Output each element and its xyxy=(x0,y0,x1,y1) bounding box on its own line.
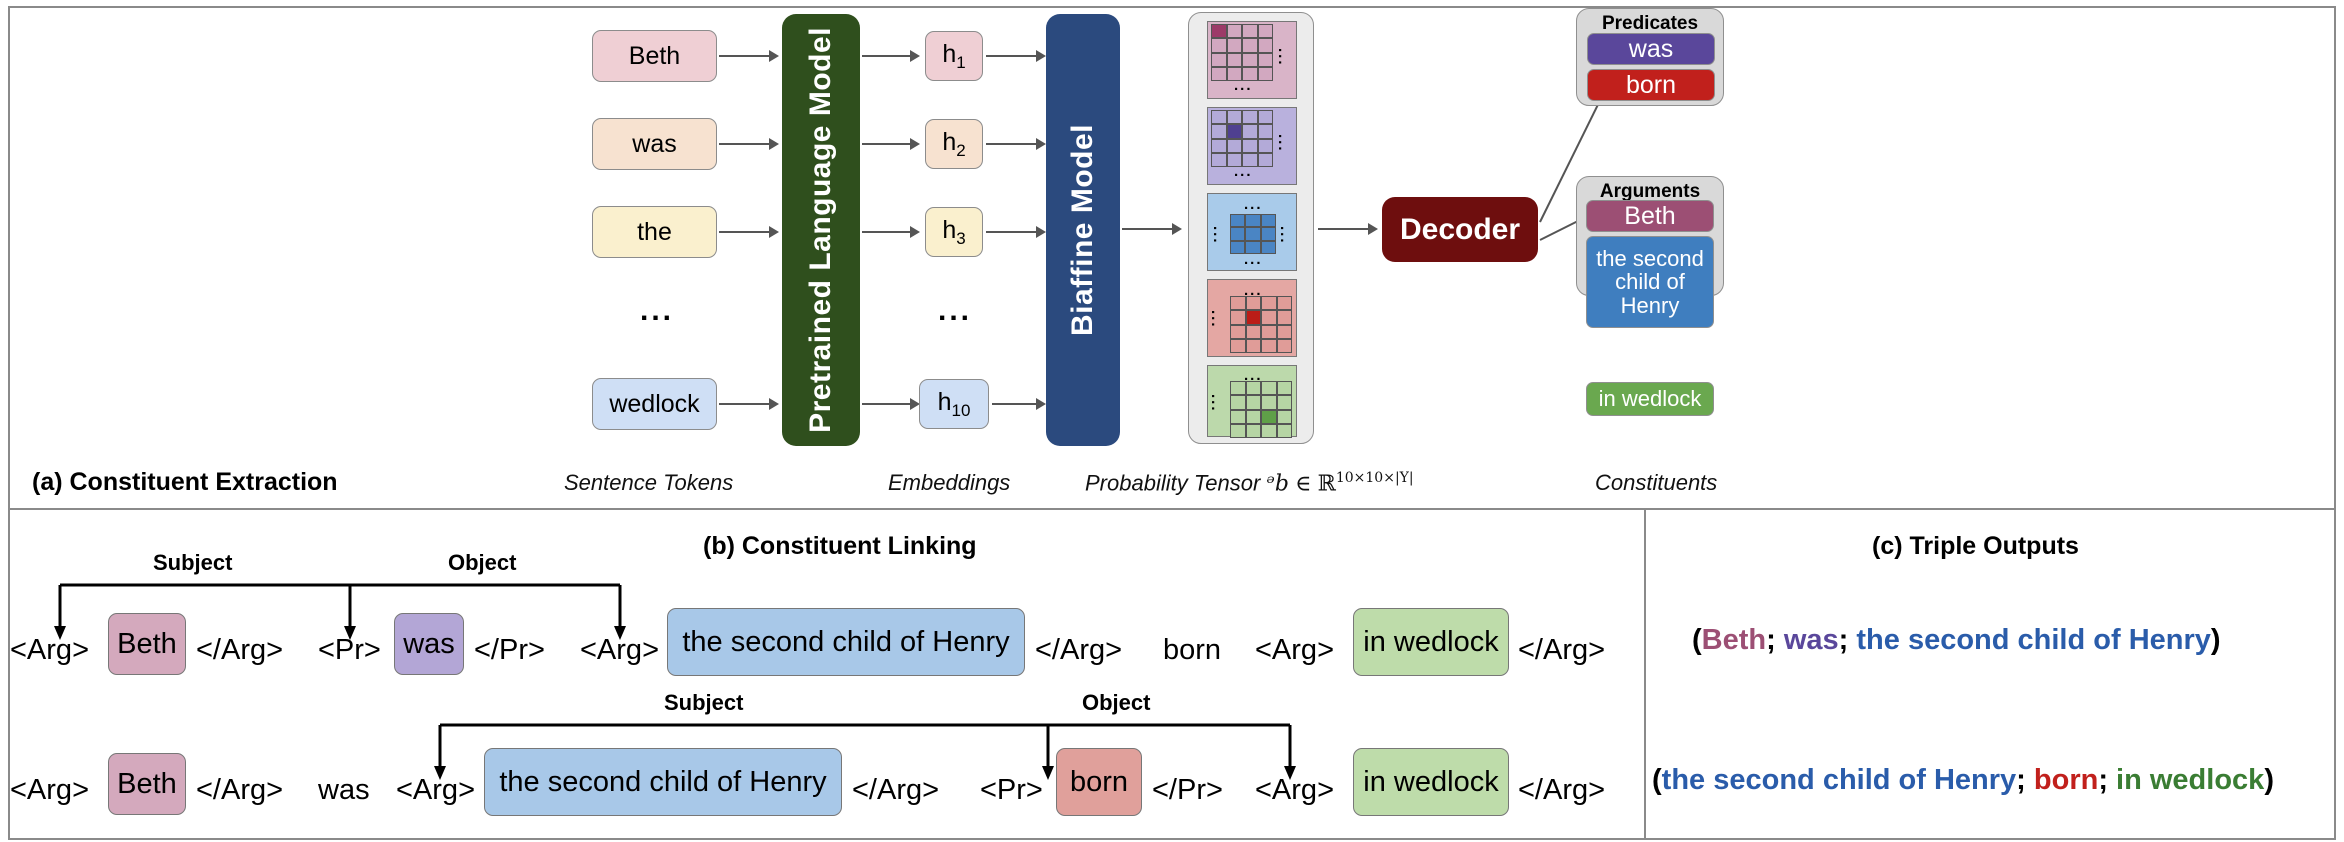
arrow-plm-to-emb2 xyxy=(862,231,912,233)
tensor-cell xyxy=(1277,296,1293,310)
tensor-cell xyxy=(1261,381,1277,395)
decoder-block[interactable]: Decoder xyxy=(1382,197,1538,262)
row1-chip-was[interactable]: was xyxy=(394,613,464,675)
token-label: the xyxy=(637,218,672,247)
arrow-token1-to-plm xyxy=(719,143,771,145)
arrow-biaffine-to-tensor xyxy=(1122,228,1174,230)
predicate-chip-born[interactable]: born xyxy=(1587,69,1715,101)
tensor-cell xyxy=(1258,38,1274,52)
link-label-subject-row2: Subject xyxy=(664,690,743,716)
tensor-cell xyxy=(1277,424,1293,438)
tensor-cell xyxy=(1211,139,1227,153)
tensor-cell xyxy=(1258,24,1274,38)
token-label: Beth xyxy=(629,42,680,71)
argument-label: in wedlock xyxy=(1599,387,1702,410)
row1-tag-arg-open-2: <Arg> xyxy=(580,627,659,673)
link-arrows-row1 xyxy=(0,0,2344,842)
tensor-cell xyxy=(1258,139,1274,153)
embedding-label: h2 xyxy=(942,128,965,161)
link-label-object-row2: Object xyxy=(1082,690,1150,716)
link-label-subject-row1: Subject xyxy=(153,550,232,576)
tensor-symbol: ᵊb xyxy=(1266,471,1289,496)
arrow-head xyxy=(769,138,779,150)
triple-object: in wedlock xyxy=(2116,764,2264,796)
link-label-object-row1: Object xyxy=(448,550,516,576)
row2-tag-arg-close-2: </Arg> xyxy=(852,767,939,813)
embedding-box-3[interactable]: h10 xyxy=(919,379,989,429)
tensor-cell xyxy=(1277,410,1293,424)
tensor-cell xyxy=(1246,339,1262,353)
arrow-plm-to-emb3 xyxy=(862,403,912,405)
triple-predicate: was xyxy=(1784,624,1839,656)
decoder-output-arrows xyxy=(0,0,2344,500)
tensor-cell xyxy=(1277,395,1293,409)
token-label: was xyxy=(632,130,676,159)
tensor-grid xyxy=(1230,381,1292,438)
token-ellipsis: ... xyxy=(640,296,674,326)
arrow-token0-to-plm xyxy=(719,55,771,57)
triple-subject: the second child of Henry xyxy=(1662,764,2017,796)
predicates-panel: Predicates was born xyxy=(1576,8,1724,106)
row1-word-born: born xyxy=(1163,627,1221,673)
tensor-grid xyxy=(1230,296,1292,353)
arrow-token3-to-plm xyxy=(719,403,771,405)
tensor-cell xyxy=(1258,124,1274,138)
embedding-label: h1 xyxy=(942,40,965,73)
embedding-box-1[interactable]: h2 xyxy=(925,119,983,169)
decoder-label: Decoder xyxy=(1400,213,1520,247)
tensor-cell xyxy=(1230,310,1246,324)
tensor-caption-prefix: Probability Tensor xyxy=(1085,470,1260,495)
arrow-head xyxy=(1036,138,1046,150)
tensor-cell xyxy=(1242,110,1258,124)
tensor-cell xyxy=(1261,214,1276,227)
row2-tag-arg-close-3: </Arg> xyxy=(1518,767,1605,813)
triple-object: the second child of Henry xyxy=(1856,624,2211,656)
tensor-cell xyxy=(1227,53,1243,67)
tensor-cell xyxy=(1246,410,1262,424)
row1-chip-beth[interactable]: Beth xyxy=(108,613,186,675)
row1-chip-in-wedlock[interactable]: in wedlock xyxy=(1353,608,1509,676)
row1-tag-arg-close-1: </Arg> xyxy=(196,627,283,673)
token-box-2[interactable]: the xyxy=(592,206,717,258)
divider-right-edge xyxy=(2334,6,2336,840)
divider-top xyxy=(8,6,2336,8)
arrow-plm-to-emb0 xyxy=(862,55,912,57)
embedding-ellipsis: ... xyxy=(938,296,972,326)
tensor-col-ellipsis: ... xyxy=(1234,78,1253,93)
argument-chip-second-child[interactable]: the second child of Henry xyxy=(1586,236,1714,328)
tensor-cell xyxy=(1261,227,1276,240)
row2-chip-born[interactable]: born xyxy=(1056,748,1142,816)
arrow-emb1-to-biaffine xyxy=(986,143,1038,145)
triple-predicate: born xyxy=(2034,764,2098,796)
row2-chip-in-wedlock[interactable]: in wedlock xyxy=(1353,748,1509,816)
tensor-cell xyxy=(1227,139,1243,153)
arrow-head xyxy=(769,398,779,410)
tensor-cell xyxy=(1211,38,1227,52)
token-box-0[interactable]: Beth xyxy=(592,30,717,82)
arrow-head xyxy=(1036,50,1046,62)
divider-left-edge xyxy=(8,6,10,840)
tensor-cell xyxy=(1261,310,1277,324)
tensor-cell xyxy=(1246,325,1262,339)
token-box-3[interactable]: wedlock xyxy=(592,378,717,430)
tensor-cell xyxy=(1246,381,1262,395)
arrow-head xyxy=(769,50,779,62)
tensor-cell xyxy=(1246,424,1262,438)
tensor-cell xyxy=(1277,325,1293,339)
arrow-head xyxy=(1368,223,1378,235)
biaffine-label: Biaffine Model xyxy=(1066,124,1100,336)
tensor-cell xyxy=(1230,381,1246,395)
row2-tag-arg-open-2: <Arg> xyxy=(396,767,475,813)
tensor-cell xyxy=(1246,395,1262,409)
tensor-slice-pink: ... ... xyxy=(1207,21,1297,99)
tensor-cell xyxy=(1227,24,1243,38)
row1-tag-pr-close: </Pr> xyxy=(474,627,545,673)
tensor-cell xyxy=(1277,381,1293,395)
tensor-cell xyxy=(1230,325,1246,339)
argument-label: the second child of Henry xyxy=(1589,247,1711,316)
tensor-top-ellipsis: ... xyxy=(1244,197,1263,212)
caption-constituents: Constituents xyxy=(1595,470,1717,496)
tensor-cell xyxy=(1245,214,1260,227)
tensor-grid xyxy=(1211,24,1273,81)
triple-subject: Beth xyxy=(1702,624,1766,656)
triple-open-paren: ( xyxy=(1652,764,1662,796)
tensor-cell xyxy=(1230,395,1246,409)
tensor-cell xyxy=(1261,325,1277,339)
tensor-left-ellipsis: ... xyxy=(1212,310,1221,329)
tensor-row-ellipsis: ... xyxy=(1279,134,1288,153)
tensor-left-ellipsis: ... xyxy=(1212,394,1221,413)
tensor-cell xyxy=(1261,241,1276,254)
predicate-label: was xyxy=(1629,36,1673,62)
token-label: wedlock xyxy=(609,390,699,419)
tensor-cell xyxy=(1246,296,1262,310)
arrow-tensor-to-decoder xyxy=(1318,228,1370,230)
token-box-1[interactable]: was xyxy=(592,118,717,170)
tensor-cell xyxy=(1227,110,1243,124)
arrow-head xyxy=(910,138,920,150)
tensor-cell xyxy=(1242,124,1258,138)
tensor-slice-green: ... ... xyxy=(1207,365,1297,437)
tensor-dims: 10×10×|Y| xyxy=(1336,470,1414,486)
tensor-cell xyxy=(1242,24,1258,38)
tensor-cell xyxy=(1230,339,1246,353)
caption-embeddings: Embeddings xyxy=(888,470,1010,496)
predicate-label: born xyxy=(1626,72,1676,98)
figure-root: Beth was the ... wedlock Pretrained Lang… xyxy=(0,0,2344,842)
argument-chip-beth[interactable]: Beth xyxy=(1586,200,1714,232)
divider-horizontal-main xyxy=(8,508,2336,510)
divider-bottom xyxy=(8,838,2336,840)
tensor-right-ellipsis: ... xyxy=(1281,226,1290,245)
embedding-box-0[interactable]: h1 xyxy=(925,31,983,81)
triple-close-paren: ) xyxy=(2264,764,2274,796)
row1-tag-pr-open: <Pr> xyxy=(318,627,381,673)
row1-tag-arg-close-3: </Arg> xyxy=(1518,627,1605,673)
row2-chip-beth[interactable]: Beth xyxy=(108,753,186,815)
row1-tag-arg-open-3: <Arg> xyxy=(1255,627,1334,673)
tensor-cell xyxy=(1258,67,1274,81)
arrow-plm-to-emb1 xyxy=(862,143,912,145)
chip-label: was xyxy=(403,628,455,661)
section-c-caption: (c) Triple Outputs xyxy=(1872,532,2079,561)
row2-tag-pr-open: <Pr> xyxy=(980,767,1043,813)
tensor-cell xyxy=(1261,339,1277,353)
triple-sep-2: ; xyxy=(1839,624,1857,656)
tensor-cell xyxy=(1277,339,1293,353)
chip-label: the second child of Henry xyxy=(682,626,1009,659)
arrow-emb3-to-biaffine xyxy=(992,403,1038,405)
tensor-cell xyxy=(1258,53,1274,67)
divider-vertical-c xyxy=(1644,510,1646,840)
arrow-head xyxy=(910,226,920,238)
tensor-in-symbol: ∈ xyxy=(1295,471,1311,496)
tensor-slice-purple: ... ... xyxy=(1207,107,1297,185)
tensor-slice-blue: ... ... ... ... xyxy=(1207,193,1297,271)
tensor-grid xyxy=(1211,110,1273,167)
tensor-cell xyxy=(1211,67,1227,81)
embedding-label: h3 xyxy=(942,216,965,249)
row2-word-was: was xyxy=(318,767,370,813)
tensor-cell xyxy=(1211,53,1227,67)
tensor-row-ellipsis: ... xyxy=(1279,48,1288,67)
chip-label: Beth xyxy=(117,628,177,661)
embedding-box-2[interactable]: h3 xyxy=(925,207,983,257)
tensor-cell xyxy=(1211,110,1227,124)
argument-chip-in-wedlock[interactable]: in wedlock xyxy=(1586,382,1714,416)
chip-label: born xyxy=(1070,766,1128,799)
tensor-cell-highlight xyxy=(1261,410,1277,424)
row1-tag-arg-open-1: <Arg> xyxy=(10,627,89,673)
tensor-col-ellipsis: ... xyxy=(1234,164,1253,179)
row2-chip-second-child[interactable]: the second child of Henry xyxy=(484,748,842,816)
tensor-cell xyxy=(1261,395,1277,409)
tensor-space-symbol: ℝ xyxy=(1318,471,1336,496)
row2-tag-arg-open-1: <Arg> xyxy=(10,767,89,813)
triple-output-2: (the second child of Henry; born; in wed… xyxy=(1652,764,2274,797)
tensor-cell xyxy=(1230,296,1246,310)
predicates-title: Predicates xyxy=(1577,13,1723,35)
biaffine-model-block[interactable]: Biaffine Model xyxy=(1046,14,1120,446)
row2-tag-arg-open-3: <Arg> xyxy=(1255,767,1334,813)
tensor-slice-red: ... ... xyxy=(1207,279,1297,357)
arrow-head xyxy=(1036,226,1046,238)
embedding-label: h10 xyxy=(938,388,971,421)
chip-label: the second child of Henry xyxy=(499,766,826,799)
tensor-cell xyxy=(1245,227,1260,240)
chip-label: Beth xyxy=(117,768,177,801)
caption-probability-tensor: Probability Tensor ᵊb ∈ ℝ10×10×|Y| xyxy=(1085,470,1414,496)
pretrained-language-model-block[interactable]: Pretrained Language Model xyxy=(782,14,860,446)
plm-label: Pretrained Language Model xyxy=(804,27,838,433)
tensor-left-ellipsis: ... xyxy=(1214,226,1223,245)
tensor-cell xyxy=(1277,310,1293,324)
probability-tensor-stack: ... ... ... xyxy=(1188,12,1314,444)
arrow-head xyxy=(1172,223,1182,235)
tensor-cell xyxy=(1227,38,1243,52)
row1-chip-second-child[interactable]: the second child of Henry xyxy=(667,608,1025,676)
tensor-cell xyxy=(1242,38,1258,52)
argument-label: Beth xyxy=(1624,203,1675,229)
tensor-grid xyxy=(1230,214,1276,254)
section-b-caption: (b) Constituent Linking xyxy=(703,532,977,561)
row2-tag-arg-close-1: </Arg> xyxy=(196,767,283,813)
tensor-cell xyxy=(1211,124,1227,138)
triple-close-paren: ) xyxy=(2211,624,2221,656)
tensor-cell-highlight xyxy=(1211,24,1227,38)
triple-output-1: (Beth; was; the second child of Henry) xyxy=(1692,624,2221,657)
tensor-cell-highlight xyxy=(1227,124,1243,138)
tensor-cell xyxy=(1258,153,1274,167)
arrow-token2-to-plm xyxy=(719,231,771,233)
arrow-emb0-to-biaffine xyxy=(986,55,1038,57)
chip-label: in wedlock xyxy=(1363,766,1498,799)
tensor-cell-highlight xyxy=(1246,310,1262,324)
arrow-emb2-to-biaffine xyxy=(986,231,1038,233)
link-arrows-row2 xyxy=(0,0,2344,842)
tensor-cell xyxy=(1242,53,1258,67)
chip-label: in wedlock xyxy=(1363,626,1498,659)
arrow-head xyxy=(910,50,920,62)
tensor-cell xyxy=(1261,424,1277,438)
tensor-cell xyxy=(1211,153,1227,167)
caption-sentence-tokens: Sentence Tokens xyxy=(564,470,733,496)
triple-sep-1: ; xyxy=(1766,624,1784,656)
row2-tag-pr-close: </Pr> xyxy=(1152,767,1223,813)
tensor-cell xyxy=(1230,214,1245,227)
triple-sep-1: ; xyxy=(2016,764,2034,796)
tensor-cell xyxy=(1258,110,1274,124)
arrow-head xyxy=(769,226,779,238)
section-a-caption: (a) Constituent Extraction xyxy=(32,468,338,497)
triple-sep-2: ; xyxy=(2098,764,2116,796)
tensor-cell xyxy=(1230,424,1246,438)
triple-open-paren: ( xyxy=(1692,624,1702,656)
tensor-cell xyxy=(1230,227,1245,240)
predicate-chip-was[interactable]: was xyxy=(1587,33,1715,65)
tensor-cell xyxy=(1242,139,1258,153)
tensor-cell xyxy=(1230,410,1246,424)
tensor-bottom-ellipsis: ... xyxy=(1244,252,1263,267)
arrow-head xyxy=(1036,398,1046,410)
row1-tag-arg-close-2: </Arg> xyxy=(1035,627,1122,673)
tensor-cell xyxy=(1261,296,1277,310)
